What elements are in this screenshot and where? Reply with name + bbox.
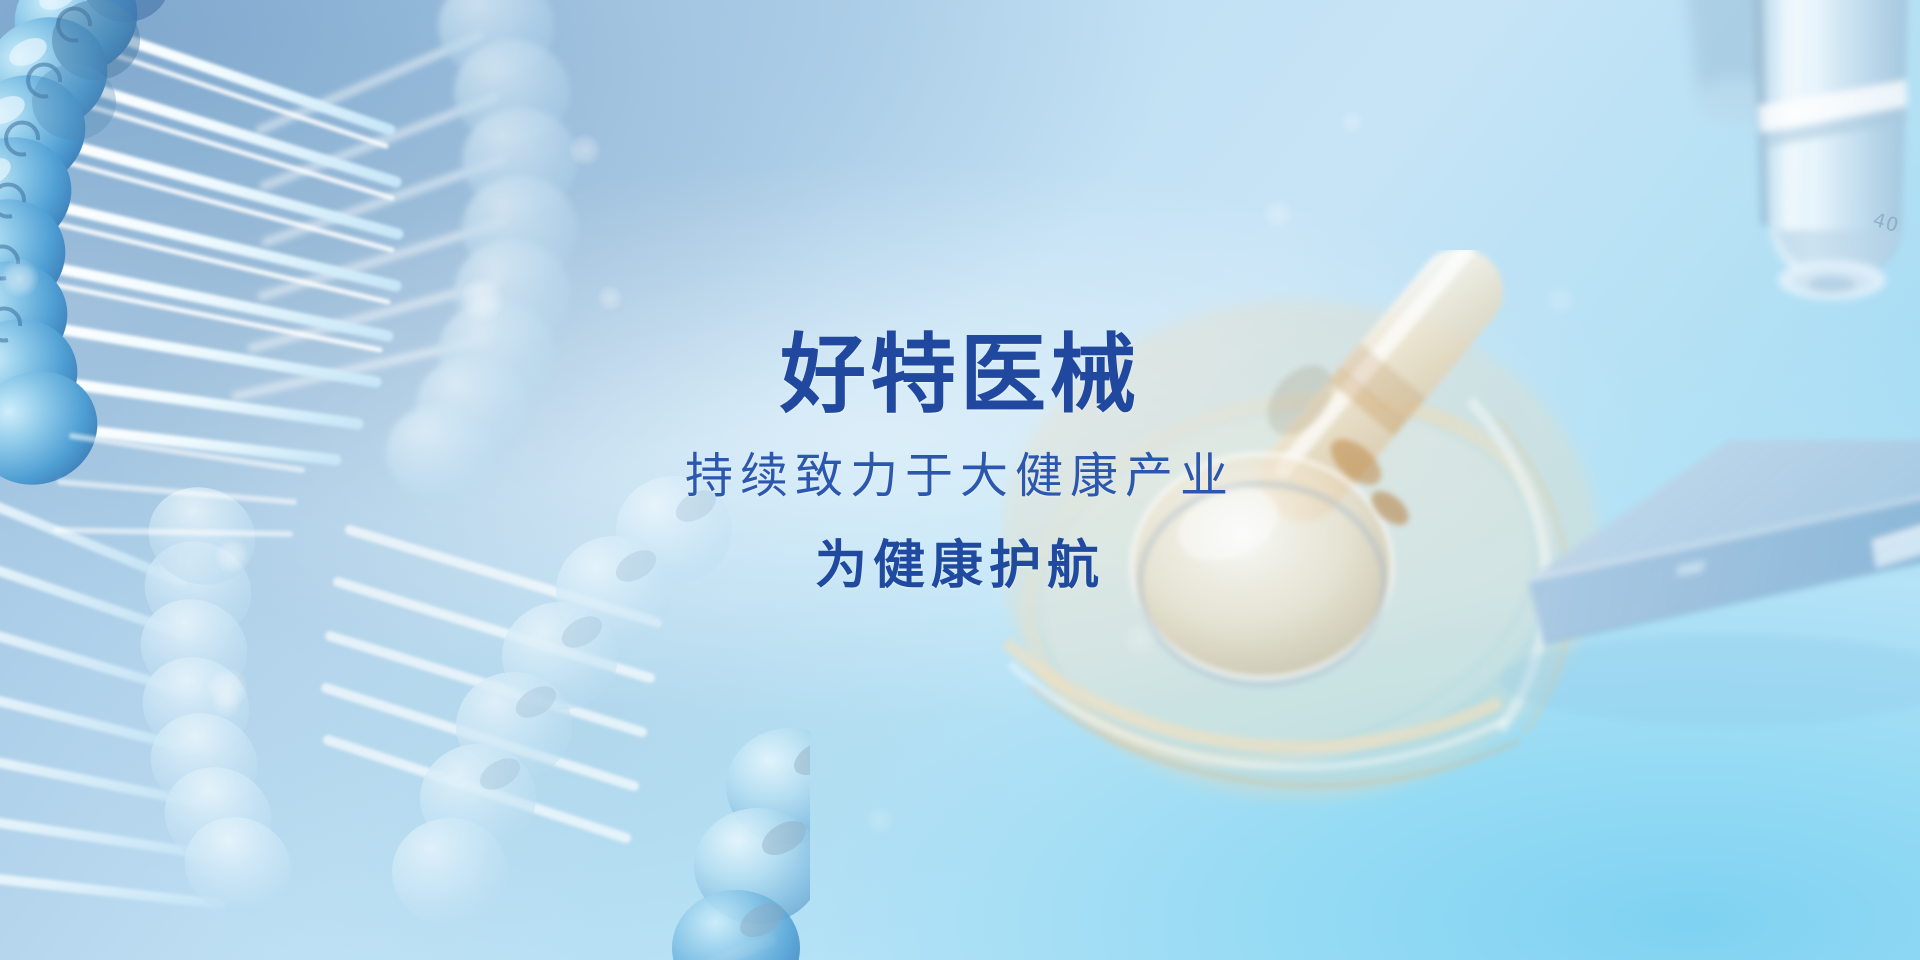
page-title: 好特医械 [0, 332, 1920, 418]
hero-copy: 好特医械 持续致力于大健康产业 为健康护航 [0, 332, 1920, 592]
hero-slogan: 为健康护航 [0, 540, 1920, 592]
hero-tagline: 持续致力于大健康产业 [0, 452, 1920, 500]
hero-banner: 40 好特医械 持续致力于大健康产业 为健康护航 [0, 0, 1920, 960]
